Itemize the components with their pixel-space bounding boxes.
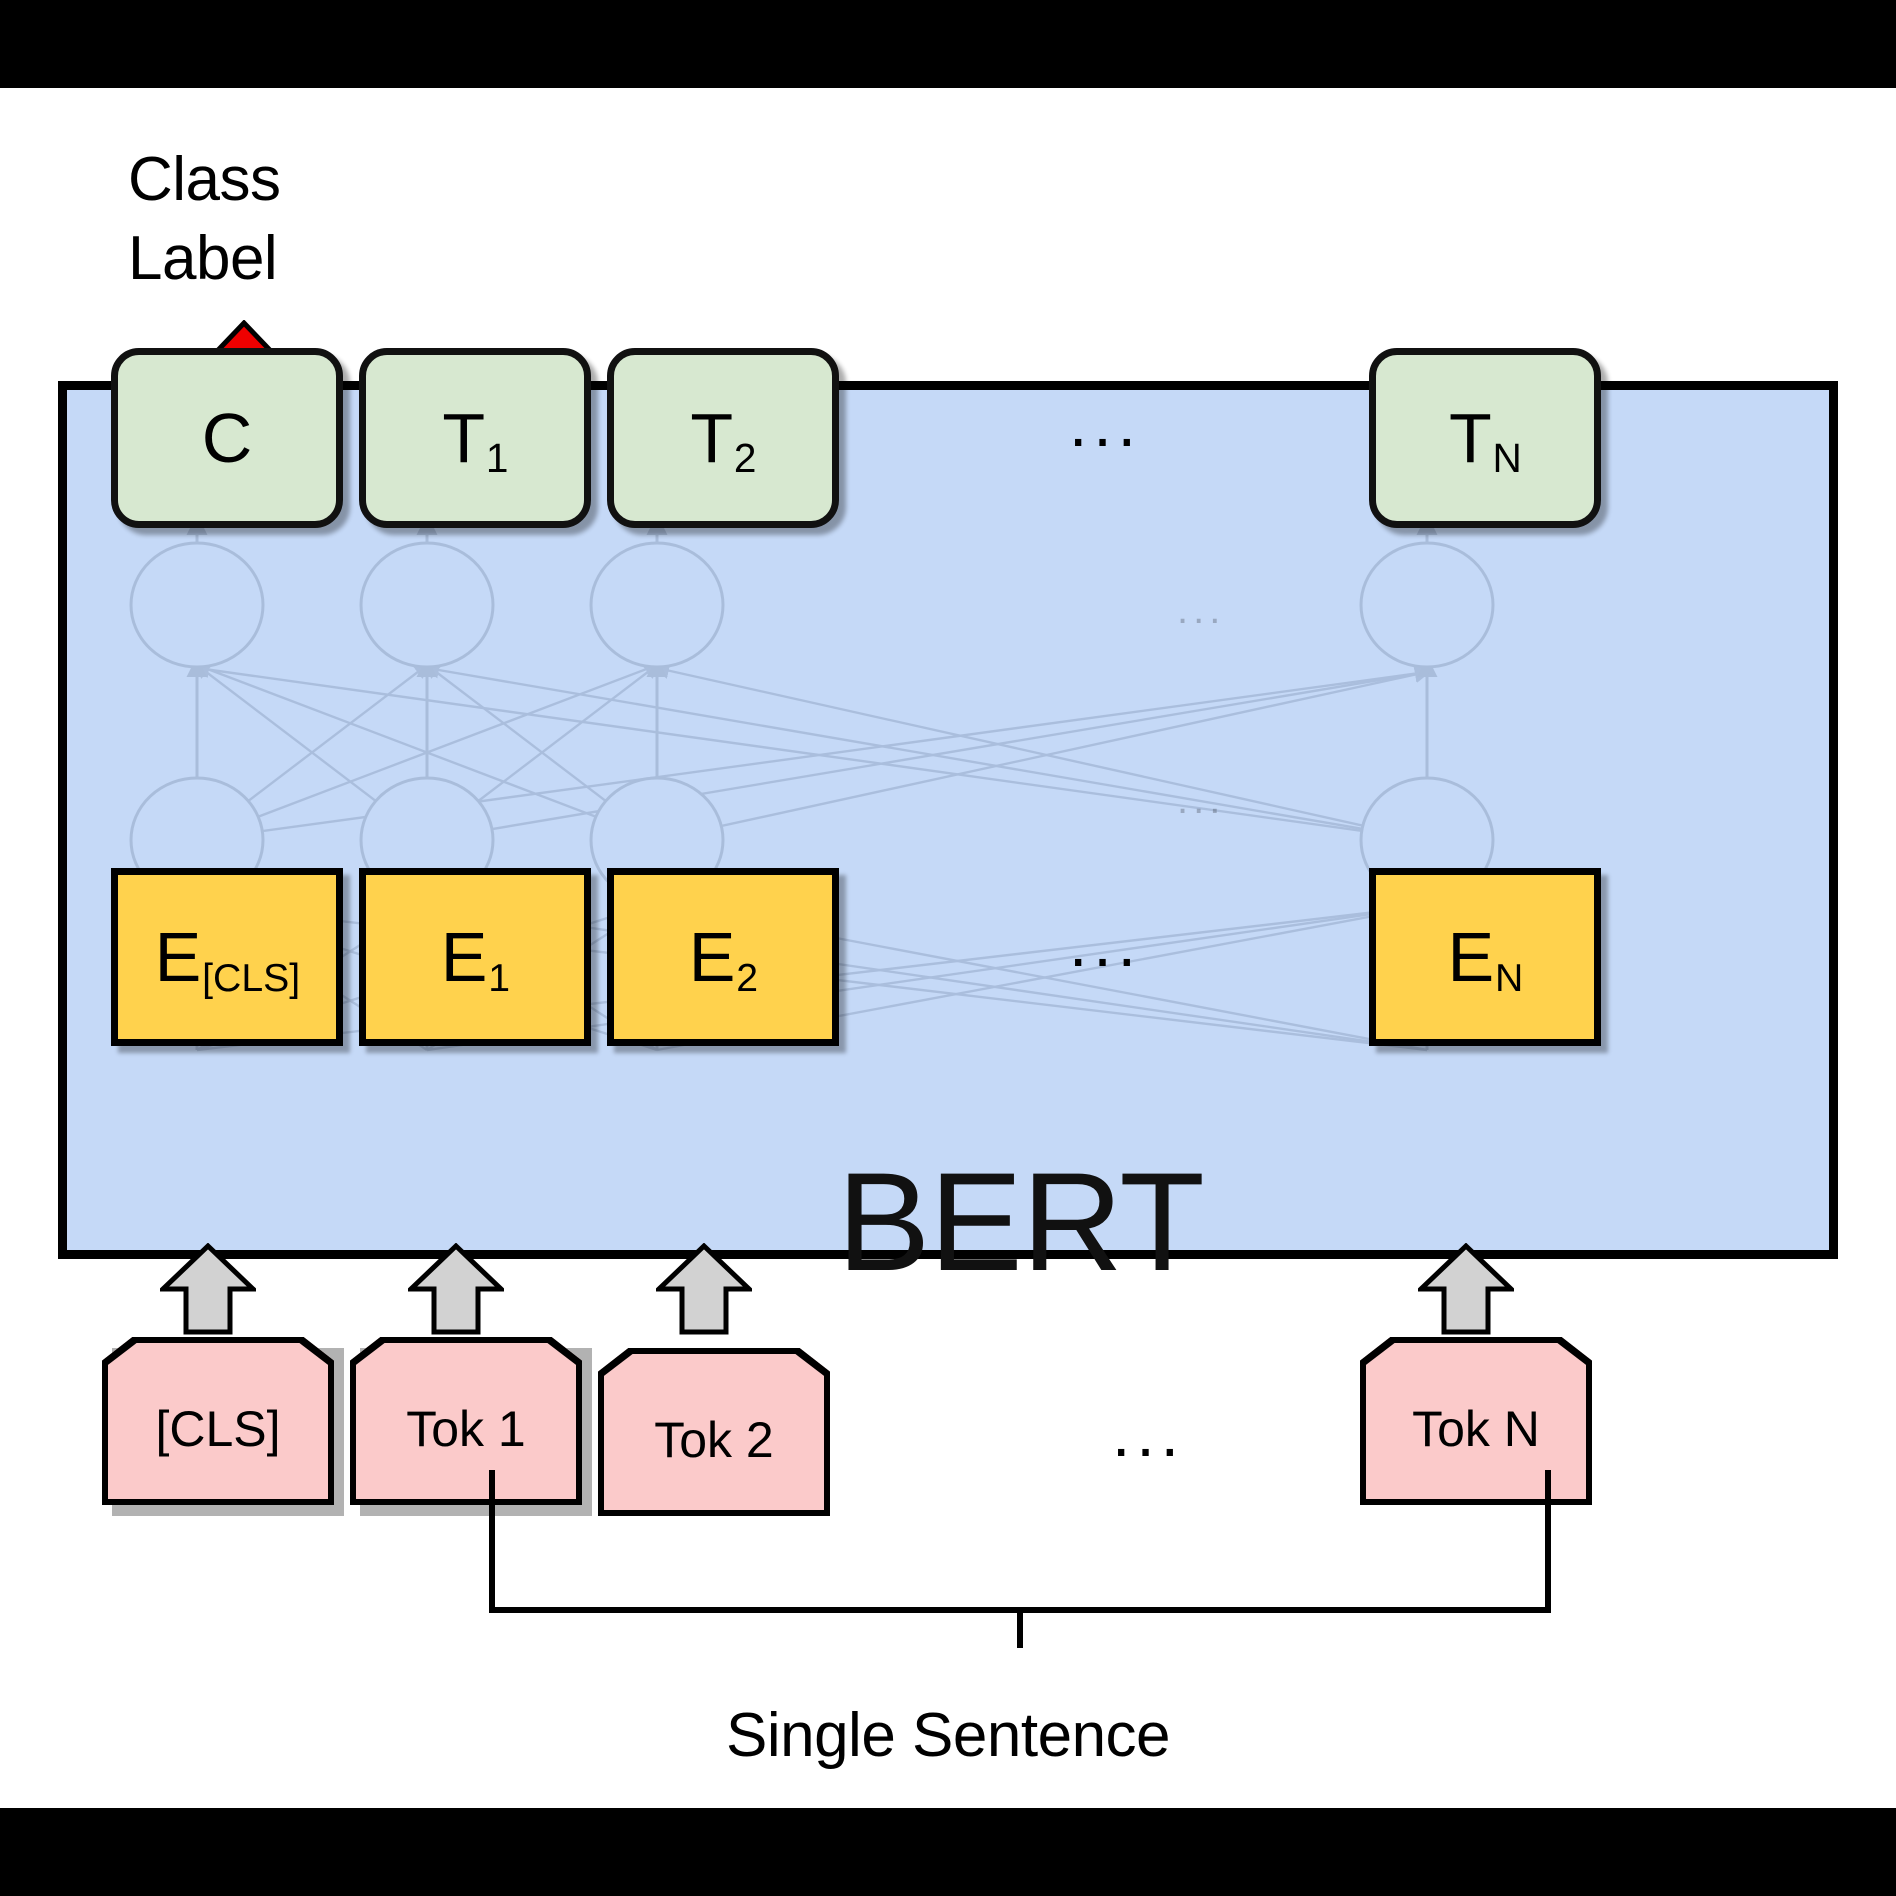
embedding-box-e1[interactable]: E1 <box>359 868 591 1046</box>
network-ellipsis-lower: ... <box>1177 780 1225 820</box>
output-box-t2[interactable]: T2 <box>607 348 839 528</box>
embedding-box-e2-label: E2 <box>689 922 758 992</box>
class-label-text: Class Label <box>128 140 488 299</box>
token-box-tok2-label: Tok 2 <box>654 1399 774 1465</box>
figure-canvas: Class Label <box>0 0 1896 1896</box>
embedding-box-ecls-label: E[CLS] <box>155 922 300 992</box>
output-box-c-label: C <box>202 403 253 473</box>
token-to-embedding-arrow-tok2 <box>656 1243 752 1335</box>
token-to-embedding-arrow-tokn <box>1418 1243 1514 1335</box>
output-box-tn-label: TN <box>1449 403 1521 473</box>
output-box-t1[interactable]: T1 <box>359 348 591 528</box>
embedding-box-en-label: EN <box>1447 922 1522 992</box>
embedding-box-en[interactable]: EN <box>1369 868 1601 1046</box>
output-row-ellipsis: ... <box>1069 390 1142 456</box>
token-to-embedding-arrow-cls <box>160 1243 256 1335</box>
token-row-ellipsis: ... <box>1112 1400 1185 1466</box>
token-to-embedding-arrow-tok1 <box>408 1243 504 1335</box>
single-sentence-bracket <box>380 1470 1560 1650</box>
embedding-box-e1-label: E1 <box>441 922 510 992</box>
bert-encoder-block: BERT ... ... C T1 T2 TN ... <box>58 381 1838 1259</box>
output-box-t1-label: T1 <box>442 403 507 473</box>
token-box-cls-label: [CLS] <box>155 1388 280 1454</box>
single-sentence-label: Single Sentence <box>0 1700 1896 1771</box>
token-box-tok1-label: Tok 1 <box>406 1388 526 1454</box>
embedding-box-ecls[interactable]: E[CLS] <box>111 868 343 1046</box>
embedding-row-ellipsis: ... <box>1069 910 1142 976</box>
output-box-tn[interactable]: TN <box>1369 348 1601 528</box>
token-box-tokn-label: Tok N <box>1412 1388 1540 1454</box>
bert-wordmark: BERT <box>837 1152 1204 1292</box>
output-box-c[interactable]: C <box>111 348 343 528</box>
output-box-t2-label: T2 <box>690 403 755 473</box>
network-ellipsis-upper: ... <box>1177 590 1225 630</box>
token-box-cls[interactable]: [CLS] <box>102 1337 334 1505</box>
embedding-box-e2[interactable]: E2 <box>607 868 839 1046</box>
